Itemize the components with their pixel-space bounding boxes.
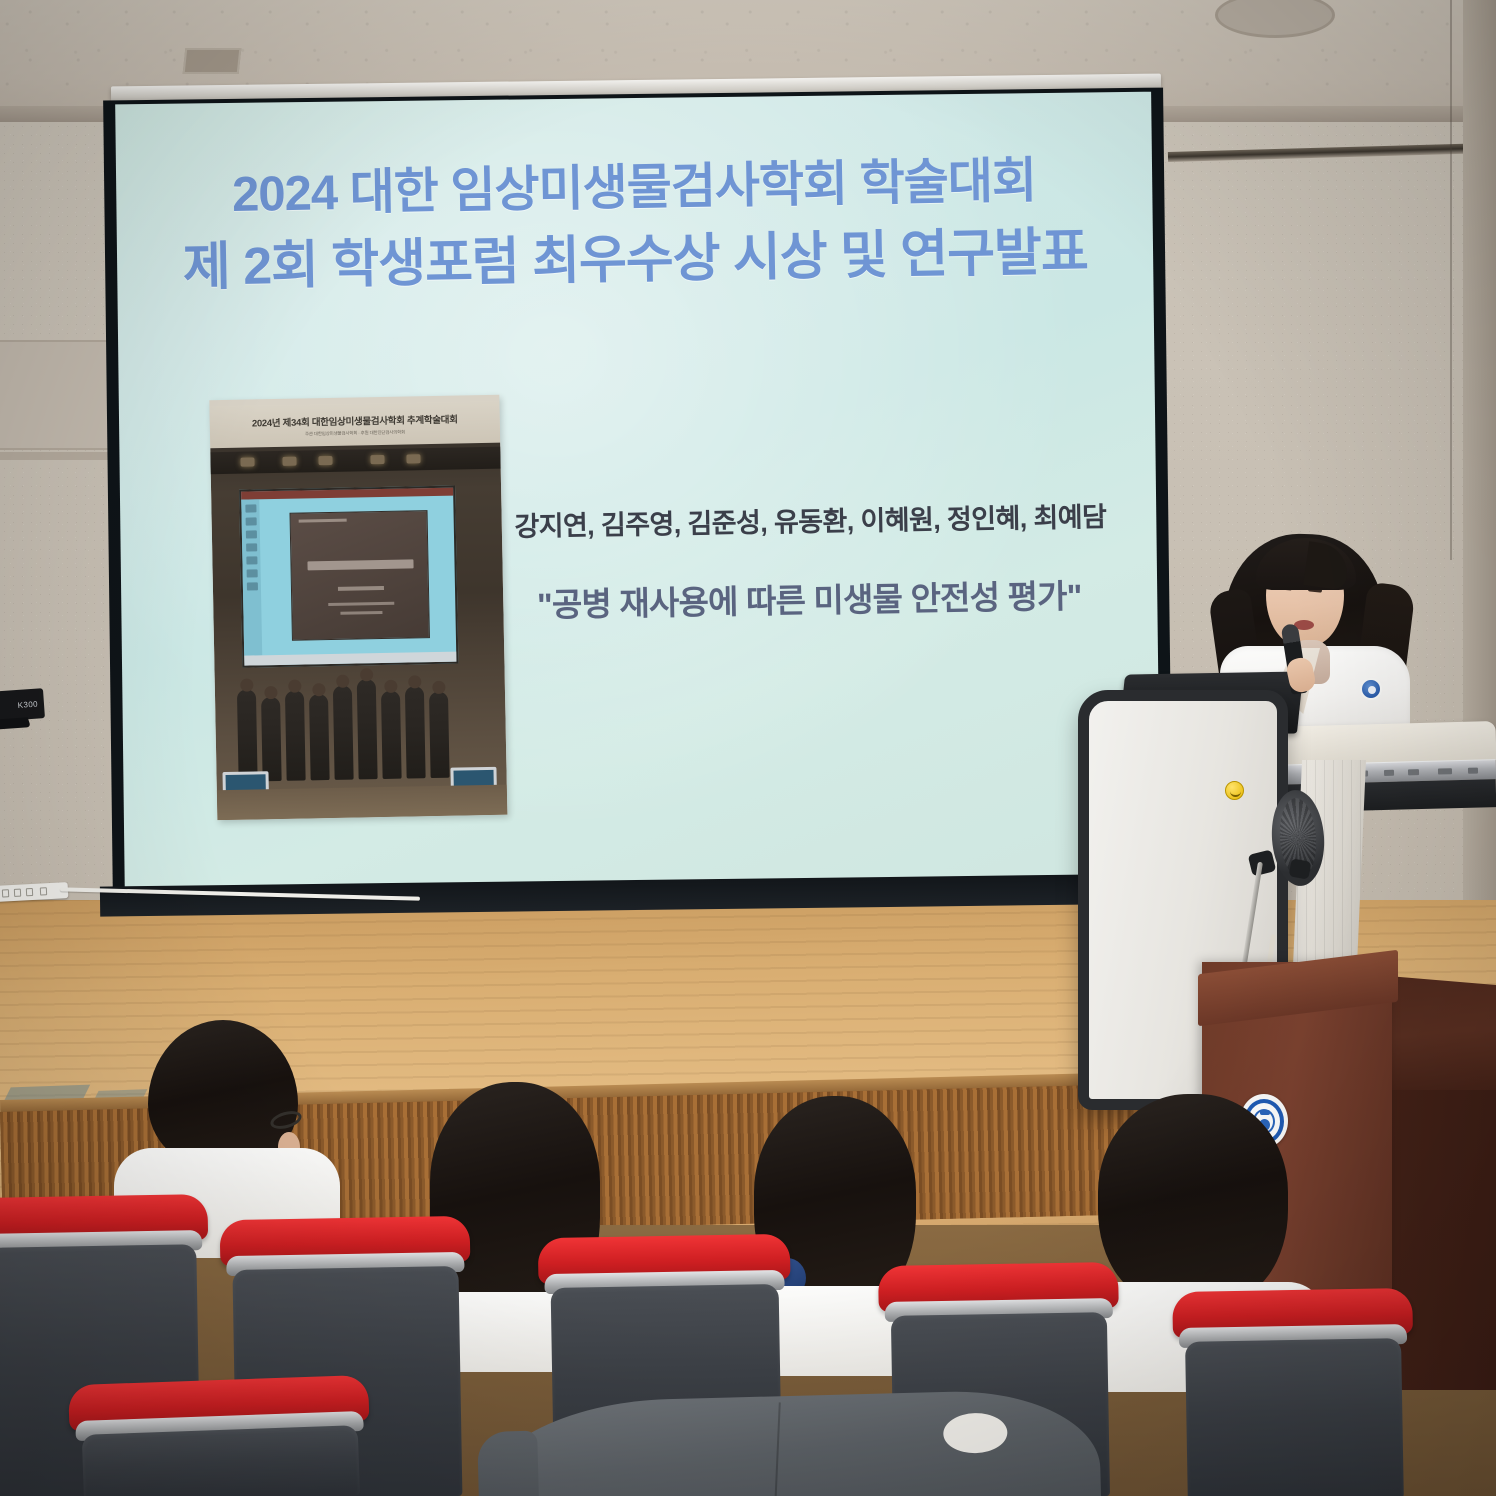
photo-banner-subtitle: 주관 대한임상미생물검사학회 · 후원 대한진단검사의학회 bbox=[305, 429, 405, 437]
screen-surface: 2024 대한 임상미생물검사학회 학술대회 제 2회 학생포럼 최우수상 시상… bbox=[115, 92, 1161, 905]
lecture-hall-photo: K300 2024 대한 임상미생물검사학회 학술대회 제 2회 학생포럼 최우… bbox=[0, 0, 1496, 1496]
puffer-sleeve bbox=[477, 1431, 540, 1496]
mic-clip-right[interactable] bbox=[1289, 858, 1312, 879]
auditorium-seat[interactable] bbox=[1172, 1288, 1416, 1496]
photo-inner-screen bbox=[239, 486, 458, 668]
photo-banner-title: 2024년 제34회 대한임상미생물검사학회 추계학술대회 bbox=[252, 411, 458, 429]
photo-stage-floor bbox=[217, 785, 508, 821]
slide-authors: 강지연, 김주영, 김준성, 유동환, 이혜원, 정인혜, 최예담 bbox=[490, 495, 1131, 545]
wall-device-k300[interactable]: K300 bbox=[0, 688, 45, 722]
puffer-seam bbox=[773, 1402, 780, 1496]
smiley-badge-icon bbox=[1225, 781, 1244, 800]
wall-corner-seam bbox=[1450, 0, 1452, 560]
slide-photo: 2024년 제34회 대한임상미생물검사학회 추계학술대회 주관 대한임상미생물… bbox=[209, 395, 507, 820]
wall-device-label: K300 bbox=[17, 699, 38, 709]
photo-lighting-truss bbox=[210, 447, 500, 475]
presenter-sleeve-emblem bbox=[1360, 678, 1382, 700]
photo-banner: 2024년 제34회 대한임상미생물검사학회 추계학술대회 주관 대한임상미생물… bbox=[209, 401, 500, 449]
wall-panel-left bbox=[0, 340, 120, 450]
wall-panel-left-trim bbox=[0, 452, 120, 460]
puffer-white-detail bbox=[943, 1412, 1008, 1454]
photo-inner-slide bbox=[290, 510, 430, 641]
ceiling-vent bbox=[183, 48, 242, 74]
slide-research-topic: "공병 재사용에 따른 미생물 안전성 평가" bbox=[489, 569, 1130, 628]
projection-screen: 2024 대한 임상미생물검사학회 학술대회 제 2회 학생포럼 최우수상 시상… bbox=[103, 80, 1175, 913]
photo-stage bbox=[210, 443, 507, 820]
audience-4-head bbox=[1098, 1094, 1288, 1302]
screen-frame: 2024 대한 임상미생물검사학회 학술대회 제 2회 학생포럼 최우수상 시상… bbox=[103, 88, 1173, 911]
slide-title: 2024 대한 임상미생물검사학회 학술대회 제 2회 학생포럼 최우수상 시상… bbox=[116, 145, 1154, 306]
photo-group-people bbox=[237, 665, 469, 781]
auditorium-seat-front-row[interactable] bbox=[68, 1375, 372, 1496]
